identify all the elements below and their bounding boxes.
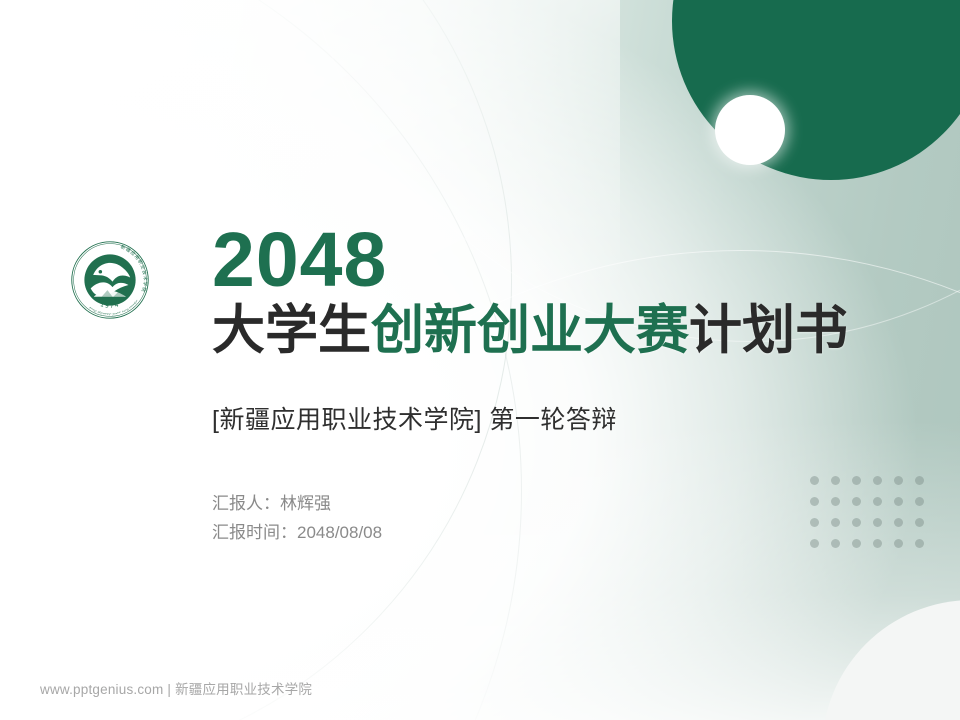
college-logo: 新疆应用职业技术学院 شىنجاڭ قوللىنىشچان كەسپىي تېخ… xyxy=(52,222,168,338)
title-year: 2048 xyxy=(212,222,912,299)
footer-credit: www.pptgenius.com | 新疆应用职业技术学院 xyxy=(40,678,312,698)
title-main-accent: 创新创业大赛 xyxy=(371,301,689,360)
subtitle: [新疆应用职业技术学院] 第一轮答辩 xyxy=(212,404,912,437)
presentation-meta: 汇报人：林辉强 汇报时间：2048/08/08 xyxy=(212,489,912,547)
title-slide: 新疆应用职业技术学院 شىنجاڭ قوللىنىشچان كەسپىي تېخ… xyxy=(0,0,960,720)
title-block: 2048 大学生创新创业大赛计划书 [新疆应用职业技术学院] 第一轮答辩 汇报人… xyxy=(212,222,912,547)
title-main: 大学生创新创业大赛计划书 xyxy=(212,301,912,360)
grid-dot xyxy=(915,497,924,506)
grid-dot xyxy=(915,539,924,548)
college-emblem-icon: 新疆应用职业技术学院 شىنجاڭ قوللىنىشچان كەسپىي تېخ… xyxy=(68,238,152,322)
grid-dot xyxy=(915,476,924,485)
grid-dot xyxy=(915,518,924,527)
meta-presenter: 汇报人：林辉强 xyxy=(212,489,912,518)
meta-date: 汇报时间：2048/08/08 xyxy=(212,518,912,547)
title-main-prefix: 大学生 xyxy=(212,301,371,360)
white-circle-decoration xyxy=(715,95,785,165)
title-main-suffix: 计划书 xyxy=(689,301,848,360)
